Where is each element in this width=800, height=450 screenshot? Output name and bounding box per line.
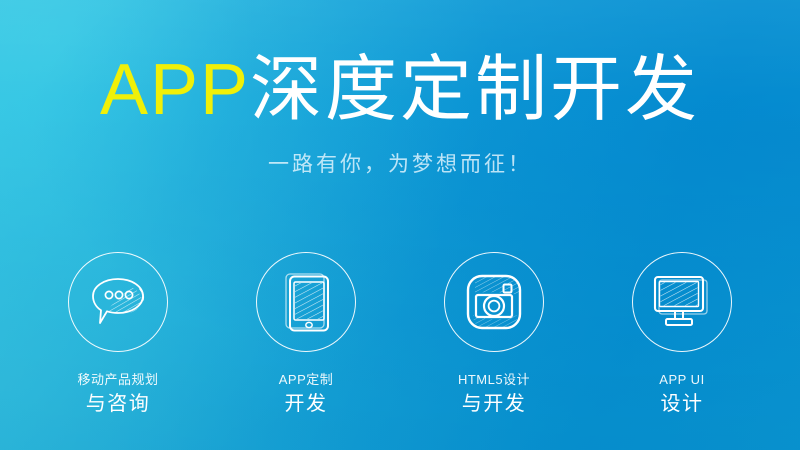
page-title: APP深度定制开发	[0, 54, 800, 126]
page-subtitle: 一路有你，为梦想而征！	[0, 148, 800, 178]
feature-label-bottom: 设计	[659, 391, 704, 418]
desktop-monitor-icon	[650, 273, 714, 331]
feature-labels: HTML5设计 与开发	[458, 370, 530, 418]
banner-content: APP深度定制开发 一路有你，为梦想而征！	[0, 0, 800, 450]
speech-bubble-icon	[87, 273, 149, 331]
feature-label-bottom: 开发	[279, 391, 334, 418]
feature-label-top: 移动产品规划	[77, 370, 158, 390]
feature-item-html5-design[interactable]: HTML5设计 与开发	[442, 252, 546, 418]
feature-item-app-ui-design[interactable]: APP UI 设计	[630, 252, 734, 418]
feature-icon-circle	[444, 252, 544, 352]
feature-label-top: APP定制	[279, 370, 334, 390]
feature-list: 移动产品规划 与咨询	[0, 252, 800, 418]
camera-icon	[463, 271, 525, 333]
promo-banner: APP深度定制开发 一路有你，为梦想而征！	[0, 0, 800, 450]
title-highlight: APP	[100, 50, 250, 130]
feature-labels: 移动产品规划 与咨询	[77, 370, 158, 418]
feature-label-bottom: 与开发	[458, 391, 530, 418]
feature-label-bottom: 与咨询	[77, 391, 158, 418]
title-rest: 深度定制开发	[250, 50, 700, 130]
feature-labels: APP定制 开发	[279, 370, 334, 418]
feature-label-top: APP UI	[659, 370, 704, 390]
feature-item-consulting[interactable]: 移动产品规划 与咨询	[66, 252, 170, 418]
feature-item-app-development[interactable]: APP定制 开发	[254, 252, 358, 418]
feature-label-top: HTML5设计	[458, 370, 530, 390]
feature-icon-circle	[256, 252, 356, 352]
tablet-device-icon	[280, 271, 332, 333]
feature-icon-circle	[632, 252, 732, 352]
feature-icon-circle	[68, 252, 168, 352]
feature-labels: APP UI 设计	[659, 370, 704, 418]
